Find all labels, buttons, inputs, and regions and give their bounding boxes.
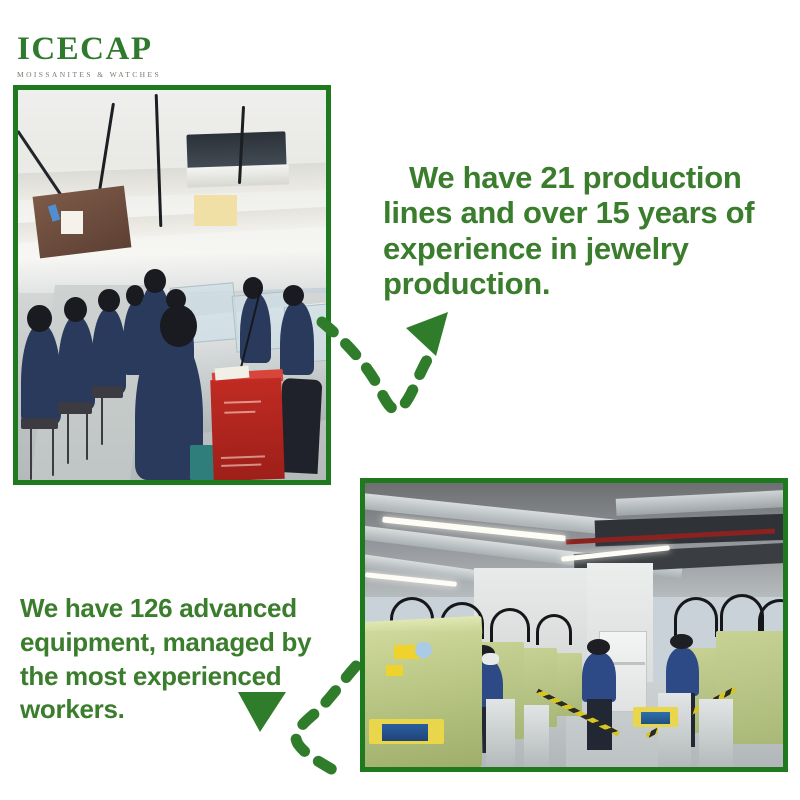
wall-panel-brown [33,186,132,259]
technician-head [587,639,610,655]
worker-head [98,289,120,312]
technician-head [670,634,693,650]
stool-leg [67,410,69,465]
worker-head [160,305,197,348]
face-mask [482,653,499,664]
machine-hose [536,614,571,645]
brand-tagline: MOISSANITES & WATCHES [17,70,277,79]
photo-factory-assembly-content [18,90,326,480]
technician [582,653,615,701]
brand-name: ICECAP [17,33,277,66]
stool-leg [101,394,103,445]
worker-seated [58,316,95,410]
stool-seat [92,386,123,398]
cabinet-label-line [224,411,255,414]
photo-factory-machines [360,478,788,772]
control-panel-screen [641,712,670,725]
machine-hose [674,597,718,637]
machine-hose [490,608,529,642]
machine-side-panel [486,699,515,767]
worker-head [27,305,52,332]
callout-production-text: We have 21 production lines and over 15 … [383,160,775,301]
brand-logo: ICECAP MOISSANITES & WATCHES [17,33,277,79]
stool-leg [52,425,54,476]
wall-notice-card [61,211,83,234]
cabinet-label-line [222,463,262,466]
arrow-head-right-icon [406,312,448,356]
worker-head [144,269,166,292]
technician [666,648,699,696]
arrow-dashed-path [296,666,356,772]
machine-side-panel [658,693,691,767]
stool-leg [30,425,32,480]
fire-equipment-cabinet [210,377,284,480]
arrow-to-production [300,290,470,490]
cabinet-label-line [221,455,265,459]
worker-seated [21,324,61,425]
control-panel-screen [382,724,428,741]
photo-factory-machines-content [365,483,783,767]
machine-badge [415,642,432,658]
stool-leg [86,410,88,461]
arrow-head-left-icon [238,692,286,732]
warning-label [386,665,403,676]
wall-yellow-panel [194,195,237,226]
machine-side-panel [524,705,549,767]
photo-factory-assembly [13,85,331,485]
machine-side-panel [699,699,732,767]
worker-seated [92,308,126,394]
cabinet-label-line [224,400,261,403]
callout-production-body: We have 21 production lines and over 15 … [383,160,754,301]
